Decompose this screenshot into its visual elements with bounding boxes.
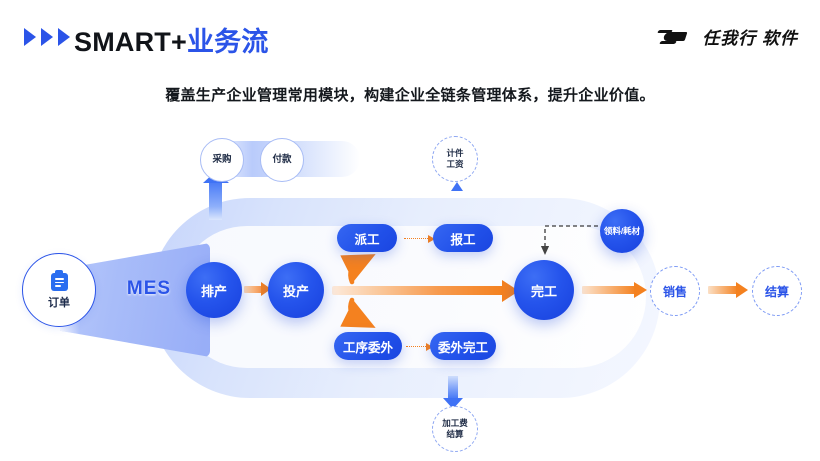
mes-label: MES	[104, 278, 194, 300]
node-xiaoshou[interactable]: 销售	[650, 266, 700, 316]
node-processing-fee[interactable]: 加工费 结算	[432, 406, 478, 452]
node-piecework-line1: 计件	[446, 148, 463, 159]
node-caigou[interactable]: 采购	[200, 138, 244, 182]
arrow-up-to-purchase-icon	[209, 182, 222, 220]
swoosh-icon	[658, 30, 694, 44]
arrow-touchan-to-wangong-icon	[332, 286, 504, 295]
arrow-xiaoshou-to-jiesuan-icon	[708, 286, 738, 294]
node-order[interactable]: 订单	[22, 253, 96, 327]
page-title: SMART+业务流	[74, 20, 269, 59]
node-jiesuan-label: 结算	[765, 283, 789, 300]
arrow-up-to-piecework-icon	[451, 182, 463, 191]
node-caigou-label: 采购	[212, 154, 231, 166]
node-jiesuan[interactable]: 结算	[752, 266, 802, 316]
brand-logo-text: 任我行 软件	[702, 24, 798, 49]
play-triangle-icon	[41, 28, 53, 46]
node-gongxu-weiwai[interactable]: 工序委外	[334, 332, 402, 360]
page-title-cn: 业务流	[187, 27, 269, 57]
node-xiaoshou-label: 销售	[663, 283, 687, 300]
node-processing-fee-line1: 加工费	[442, 418, 468, 429]
title-triangles	[24, 28, 70, 46]
node-fukuan-label: 付款	[272, 154, 291, 166]
play-triangle-icon	[24, 28, 36, 46]
node-weiwai-wangong[interactable]: 委外完工	[430, 332, 496, 360]
node-material-label: 领料/耗材	[604, 225, 640, 237]
arrow-paigong-to-baogong-icon	[404, 238, 428, 239]
subtitle: 覆盖生产企业管理常用模块，构建企业全链条管理体系，提升企业价值。	[0, 84, 820, 105]
arrow-down-to-processing-fee-icon	[448, 376, 458, 398]
page-title-en: SMART+	[74, 27, 187, 57]
node-piecework-wage[interactable]: 计件 工资	[432, 136, 478, 182]
node-touchan-label: 投产	[283, 281, 309, 300]
node-baogong-label: 报工	[450, 229, 475, 248]
node-touchan[interactable]: 投产	[268, 262, 324, 318]
node-material[interactable]: 领料/耗材	[600, 209, 644, 253]
node-paigong-label: 派工	[354, 229, 379, 248]
play-triangle-icon	[58, 28, 70, 46]
arrow-paichan-to-touchan-icon	[244, 286, 262, 293]
node-paichan[interactable]: 排产	[186, 262, 242, 318]
node-processing-fee-line2: 结算	[446, 429, 463, 440]
node-wangong-label: 完工	[531, 281, 557, 300]
node-weiwai-wangong-label: 委外完工	[438, 337, 488, 356]
arrow-gongxu-to-weiwai-icon	[406, 346, 426, 347]
node-order-label: 订单	[48, 294, 70, 310]
node-piecework-line2: 工资	[446, 159, 463, 170]
node-gongxu-weiwai-label: 工序委外	[343, 337, 393, 356]
node-fukuan[interactable]: 付款	[260, 138, 304, 182]
brand-logo: 任我行 软件	[658, 24, 798, 49]
node-wangong[interactable]: 完工	[514, 260, 574, 320]
arrow-wangong-to-xiaoshou-icon	[582, 286, 636, 294]
clipboard-icon	[51, 270, 68, 291]
slide-canvas: SMART+业务流 任我行 软件 覆盖生产企业管理常用模块，构建企业全链条管理体…	[0, 0, 820, 461]
node-paigong[interactable]: 派工	[337, 224, 397, 252]
node-paichan-label: 排产	[201, 281, 227, 300]
node-baogong[interactable]: 报工	[433, 224, 493, 252]
